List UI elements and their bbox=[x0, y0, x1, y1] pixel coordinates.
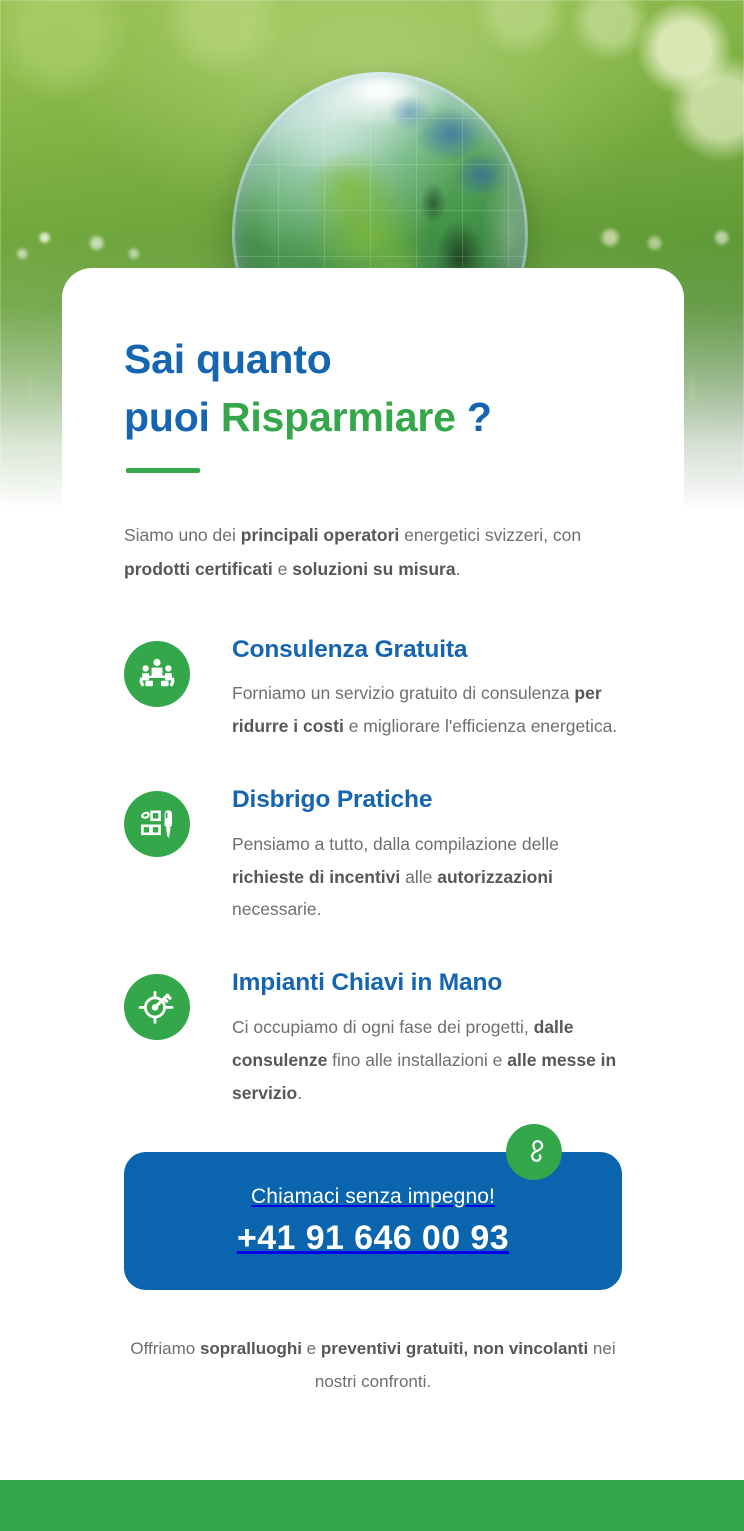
intro-part-4: . bbox=[456, 559, 461, 579]
feature-text-bold-1: richieste di incentivi bbox=[232, 867, 400, 887]
features-list: Consulenza Gratuita Forniamo un servizio… bbox=[124, 635, 622, 1110]
feature-body: Consulenza Gratuita Forniamo un servizio… bbox=[232, 635, 622, 743]
key-target-icon bbox=[124, 974, 190, 1040]
feature-item: Disbrigo Pratiche Pensiamo a tutto, dall… bbox=[124, 785, 622, 926]
intro-part-1: Siamo uno dei bbox=[124, 525, 241, 545]
intro-bold-2: prodotti certificati bbox=[124, 559, 273, 579]
headline-question-mark: ? bbox=[456, 394, 492, 440]
feature-text-part-1: Ci occupiamo di ogni fase dei progetti, bbox=[232, 1017, 534, 1037]
footnote-bold-1: sopralluoghi bbox=[200, 1339, 302, 1358]
intro-paragraph: Siamo uno dei principali operatori energ… bbox=[124, 519, 622, 586]
feature-text: Forniamo un servizio gratuito di consule… bbox=[232, 677, 622, 743]
headline-highlight: Risparmiare bbox=[221, 394, 456, 440]
footnote-part-2: e bbox=[302, 1339, 321, 1358]
feature-title: Impianti Chiavi in Mano bbox=[232, 968, 622, 999]
feature-text: Ci occupiamo di ogni fase dei progetti, … bbox=[232, 1011, 622, 1110]
cta-section: Chiamaci senza impegno! +41 91 646 00 93 bbox=[124, 1152, 622, 1290]
intro-bold-1: principali operatori bbox=[241, 525, 400, 545]
form-checklist-pen-icon bbox=[124, 791, 190, 857]
feature-text-part-1: Pensiamo a tutto, dalla compilazione del… bbox=[232, 834, 559, 854]
bottom-green-bar bbox=[0, 1480, 744, 1531]
feature-text-part-2: alle bbox=[400, 867, 437, 887]
feature-title: Disbrigo Pratiche bbox=[232, 785, 622, 816]
feature-text-part-3: necessarie. bbox=[232, 899, 322, 919]
feature-title: Consulenza Gratuita bbox=[232, 635, 622, 666]
cta-kicker: Chiamaci senza impegno! bbox=[251, 1184, 495, 1209]
intro-part-3: e bbox=[273, 559, 292, 579]
headline-line-1: Sai quanto bbox=[124, 336, 332, 382]
headline-line-2-prefix: puoi bbox=[124, 394, 221, 440]
title-divider bbox=[126, 468, 200, 473]
feature-text-part-2: e migliorare l'efficienza energetica. bbox=[344, 716, 617, 736]
footnote-bold-3: non vincolanti bbox=[473, 1339, 588, 1358]
feature-body: Impianti Chiavi in Mano Ci occupiamo di … bbox=[232, 968, 622, 1109]
consultation-people-icon bbox=[124, 641, 190, 707]
feature-item: Impianti Chiavi in Mano Ci occupiamo di … bbox=[124, 968, 622, 1109]
feature-text-part-1: Forniamo un servizio gratuito di consule… bbox=[232, 683, 574, 703]
footnote-bold-2: preventivi gratuiti, bbox=[321, 1339, 468, 1358]
intro-bold-3: soluzioni su misura bbox=[292, 559, 455, 579]
feature-text-part-3: . bbox=[297, 1083, 302, 1103]
phone-handset-icon[interactable] bbox=[506, 1124, 562, 1180]
content-card: Sai quanto puoi Risparmiare ? Siamo uno … bbox=[62, 268, 684, 1438]
footnote: Offriamo sopralluoghi e preventivi gratu… bbox=[124, 1332, 622, 1438]
footnote-part-1: Offriamo bbox=[130, 1339, 200, 1358]
feature-text: Pensiamo a tutto, dalla compilazione del… bbox=[232, 828, 622, 927]
feature-item: Consulenza Gratuita Forniamo un servizio… bbox=[124, 635, 622, 743]
feature-body: Disbrigo Pratiche Pensiamo a tutto, dall… bbox=[232, 785, 622, 926]
feature-text-part-2: fino alle installazioni e bbox=[327, 1050, 507, 1070]
phone-number: +41 91 646 00 93 bbox=[237, 1219, 509, 1258]
feature-text-bold-2: autorizzazioni bbox=[437, 867, 553, 887]
intro-part-2: energetici svizzeri, con bbox=[399, 525, 581, 545]
page-title: Sai quanto puoi Risparmiare ? bbox=[124, 330, 622, 446]
